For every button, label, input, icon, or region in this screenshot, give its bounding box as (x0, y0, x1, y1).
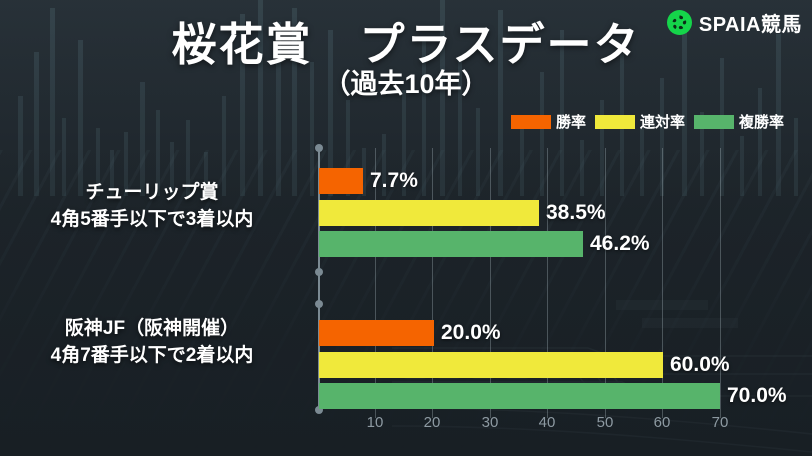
bar-value-tulip-win-rate: 7.7% (370, 168, 418, 194)
bar-value-hanshin-win-rate: 20.0% (441, 320, 501, 346)
axis-marker-mid-b (315, 300, 323, 308)
category-label-hanshin-jf: 阪神JF（阪神開催） 4角7番手以下で2着以内 (0, 316, 304, 370)
chart-infographic: 桜花賞 プラスデータ （過去10年） SPAIA競馬 勝率 連対率 (0, 0, 812, 456)
legend-label-win-rate: 勝率 (556, 111, 586, 132)
bar-value-tulip-quinella-rate: 38.5% (546, 200, 606, 226)
category-label-hanshin-jf-line2: 4角7番手以下で2着以内 (0, 343, 304, 370)
x-tick-label-60: 60 (654, 414, 671, 431)
bar-tulip-show-rate[interactable] (319, 231, 583, 257)
legend-swatch-quinella-rate (595, 115, 635, 129)
category-label-tulip-sho-line2: 4角5番手以下で3着以内 (0, 207, 304, 234)
spaia-logo: SPAIA競馬 (667, 8, 802, 37)
x-tick-label-30: 30 (482, 414, 499, 431)
x-tick-label-40: 40 (539, 414, 556, 431)
axis-marker-mid-a (315, 268, 323, 276)
legend-label-quinella-rate: 連対率 (640, 111, 685, 132)
bar-value-hanshin-quinella-rate: 60.0% (670, 352, 730, 378)
legend-swatch-show-rate (694, 115, 734, 129)
axis-marker-top (315, 144, 323, 152)
bar-tulip-quinella-rate[interactable] (319, 200, 539, 226)
legend-item-show-rate[interactable]: 複勝率 (694, 111, 784, 132)
bar-hanshin-quinella-rate[interactable] (319, 352, 663, 378)
x-tick-label-10: 10 (367, 414, 384, 431)
chart-legend: 勝率 連対率 複勝率 (511, 111, 784, 132)
legend-label-show-rate: 複勝率 (739, 111, 784, 132)
category-label-tulip-sho: チューリップ賞 4角5番手以下で3着以内 (0, 180, 304, 234)
bar-value-tulip-show-rate: 46.2% (590, 231, 650, 257)
x-tick-label-20: 20 (424, 414, 441, 431)
page-subtitle: （過去10年） (0, 62, 812, 101)
chart-plot-area: 7.7% 38.5% 46.2% 20.0% 60.0% 70.0% 10 20… (318, 148, 720, 410)
x-tick-label-50: 50 (597, 414, 614, 431)
category-label-hanshin-jf-line1: 阪神JF（阪神開催） (65, 318, 239, 339)
bar-value-hanshin-show-rate: 70.0% (727, 383, 787, 409)
x-tick-label-70: 70 (712, 414, 729, 431)
spaia-logo-text: SPAIA競馬 (699, 8, 802, 37)
spaia-pinwheel-icon (667, 10, 692, 35)
legend-item-quinella-rate[interactable]: 連対率 (595, 111, 685, 132)
legend-item-win-rate[interactable]: 勝率 (511, 111, 586, 132)
bar-tulip-win-rate[interactable] (319, 168, 363, 194)
legend-swatch-win-rate (511, 115, 551, 129)
bar-hanshin-show-rate[interactable] (319, 383, 720, 409)
category-label-tulip-sho-line1: チューリップ賞 (85, 182, 218, 203)
bar-hanshin-win-rate[interactable] (319, 320, 434, 346)
